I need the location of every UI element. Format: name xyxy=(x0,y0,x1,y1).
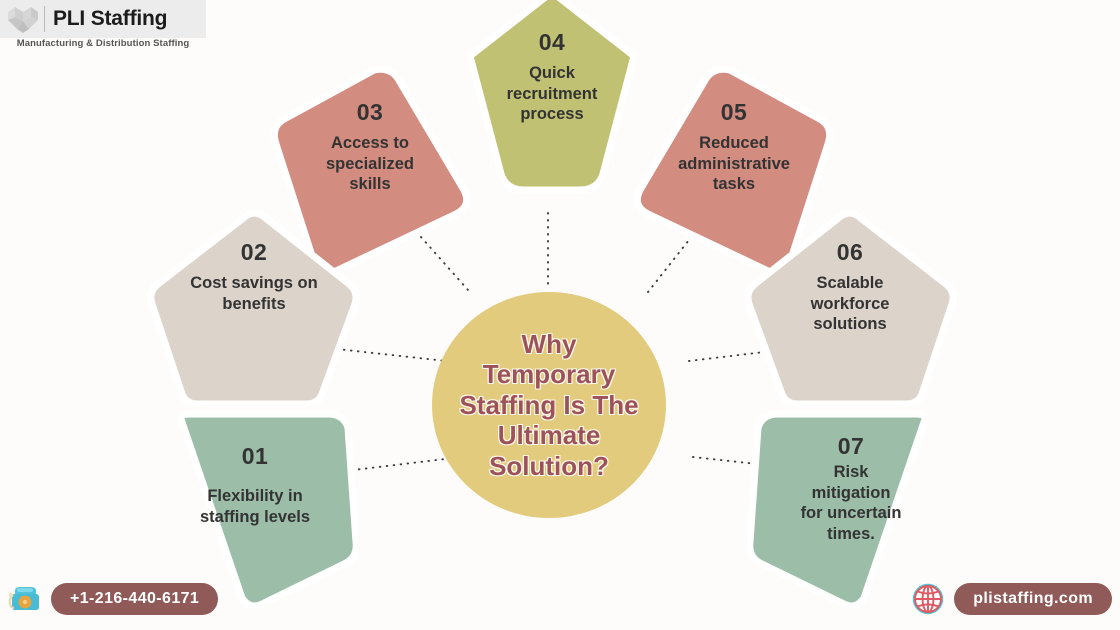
pentagon-label-07: Risk mitigation for uncertain times. xyxy=(748,462,954,544)
center-title: Why Temporary Staffing Is The Ultimate S… xyxy=(432,292,666,518)
brand-logo[interactable]: PLI Staffing Manufacturing & Distributio… xyxy=(0,0,206,56)
center-hub[interactable]: Why Temporary Staffing Is The Ultimate S… xyxy=(432,292,666,518)
brand-tagline: Manufacturing & Distribution Staffing xyxy=(0,38,206,49)
pentagon-label-06: Scalable workforce solutions xyxy=(742,273,958,334)
pentagon-label-05: Reduced administrative tasks xyxy=(632,133,836,194)
telephone-icon xyxy=(8,582,42,616)
pentagon-number-01: 01 xyxy=(152,444,358,468)
infographic-canvas: 04 Quick recruitment process 03 Access t… xyxy=(0,0,1120,630)
pentagon-label-02: Cost savings on benefits xyxy=(146,273,362,314)
pentagon-number-05: 05 xyxy=(632,100,836,124)
pentagon-node-07[interactable]: 07 Risk mitigation for uncertain times. xyxy=(748,408,954,608)
cube-heart-icon xyxy=(6,4,40,34)
website-url[interactable]: plistaffing.com xyxy=(954,583,1112,616)
pentagon-number-03: 03 xyxy=(268,100,472,124)
pentagon-label-01: Flexibility in staffing levels xyxy=(152,486,358,527)
pentagon-number-06: 06 xyxy=(742,240,958,264)
phone-number[interactable]: +1-216-440-6171 xyxy=(51,583,218,616)
logo-band: PLI Staffing xyxy=(0,0,206,38)
phone-contact[interactable]: +1-216-440-6171 xyxy=(8,582,218,616)
website-contact[interactable]: plistaffing.com xyxy=(911,582,1112,616)
pentagon-node-01[interactable]: 01 Flexibility in staffing levels xyxy=(152,408,358,608)
pentagon-number-04: 04 xyxy=(462,30,642,54)
pentagon-label-03: Access to specialized skills xyxy=(268,133,472,194)
logo-divider xyxy=(44,6,45,32)
pentagon-number-02: 02 xyxy=(146,240,362,264)
pentagon-node-04[interactable]: 04 Quick recruitment process xyxy=(462,0,642,212)
pentagon-node-06[interactable]: 06 Scalable workforce solutions xyxy=(742,208,958,408)
pentagon-node-02[interactable]: 02 Cost savings on benefits xyxy=(146,208,362,408)
pentagon-label-04: Quick recruitment process xyxy=(462,63,642,124)
brand-name: PLI Staffing xyxy=(53,7,167,31)
pentagon-number-07: 07 xyxy=(748,434,954,458)
globe-icon xyxy=(911,582,945,616)
